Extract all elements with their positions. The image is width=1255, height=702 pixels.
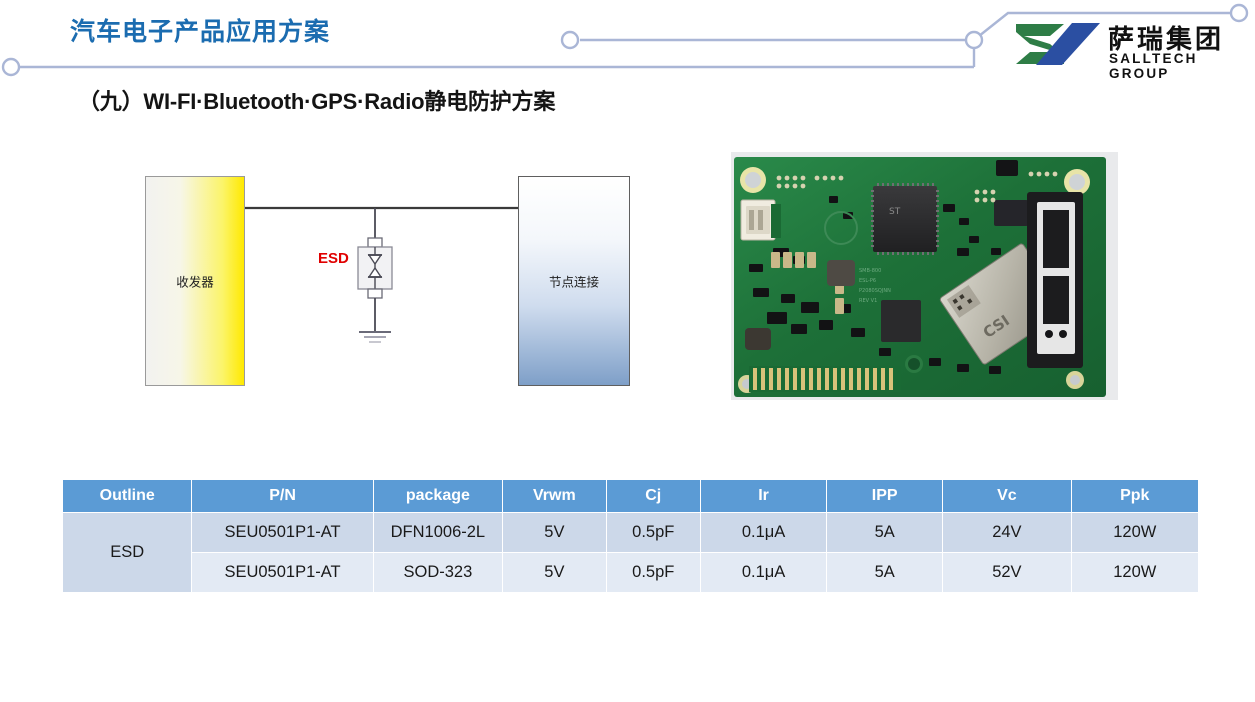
col-header-vc: Vc	[943, 480, 1071, 512]
svg-text:SMB-800: SMB-800	[859, 268, 881, 274]
table-row: SEU0501P1-AT SOD-323 5V 0.5pF 0.1μA 5A 5…	[63, 552, 1199, 592]
page-title: 汽车电子产品应用方案	[70, 12, 330, 48]
svg-text:P2080SQJNN: P2080SQJNN	[859, 288, 891, 294]
cell-vrwm: 5V	[503, 552, 607, 592]
col-header-cj: Cj	[606, 480, 700, 512]
table-row: ESD SEU0501P1-AT DFN1006-2L 5V 0.5pF 0.1…	[63, 512, 1199, 552]
node-connection-block: 节点连接	[518, 176, 630, 386]
transceiver-block: 收发器	[145, 176, 245, 386]
section-subtitle: （九）WI-FI·Bluetooth·GPS·Radio静电防护方案	[78, 84, 555, 116]
salltech-logo: 萨瑞集团 SALLTECH GROUP	[1012, 18, 1244, 70]
cell-outline-group: ESD	[63, 512, 192, 592]
pcb-photo-graphic: ST CSI	[731, 152, 1118, 400]
col-header-ipp: IPP	[827, 480, 943, 512]
deco-circle-mid	[562, 32, 578, 48]
cell-pn: SEU0501P1-AT	[192, 512, 373, 552]
cell-package: DFN1006-2L	[373, 512, 502, 552]
cell-ipp: 5A	[827, 512, 943, 552]
col-header-pn: P/N	[192, 480, 373, 512]
svg-text:ESL-P6: ESL-P6	[859, 278, 876, 284]
cell-pn: SEU0501P1-AT	[192, 552, 373, 592]
svg-text:ST: ST	[889, 207, 901, 217]
slide-header: 汽车电子产品应用方案 萨瑞集团 SALLTECH GROUP	[0, 0, 1255, 90]
col-header-package: package	[373, 480, 502, 512]
deco-circle-junction	[966, 32, 982, 48]
col-header-ir: Ir	[700, 480, 826, 512]
esd-label: ESD	[318, 250, 349, 267]
col-header-vrwm: Vrwm	[503, 480, 607, 512]
cell-vc: 52V	[943, 552, 1071, 592]
cell-package: SOD-323	[373, 552, 502, 592]
cell-ppk: 120W	[1071, 512, 1198, 552]
node-connection-label: 节点连接	[519, 272, 629, 291]
col-header-ppk: Ppk	[1071, 480, 1198, 512]
cell-cj: 0.5pF	[606, 552, 700, 592]
pcb-photo: ST CSI	[731, 152, 1118, 400]
cell-cj: 0.5pF	[606, 512, 700, 552]
esd-protection-circuit-diagram: 收发器 节点连接 ESD	[130, 160, 650, 410]
svg-text:REV V1: REV V1	[859, 298, 877, 304]
slide-root: 汽车电子产品应用方案 萨瑞集团 SALLTECH GROUP （九）WI-FI·…	[0, 0, 1255, 702]
table-header-row: Outline P/N package Vrwm Cj Ir IPP Vc Pp…	[63, 480, 1199, 512]
spec-table-container: Outline P/N package Vrwm Cj Ir IPP Vc Pp…	[62, 480, 1199, 593]
cell-ppk: 120W	[1071, 552, 1198, 592]
col-header-outline: Outline	[63, 480, 192, 512]
spec-table: Outline P/N package Vrwm Cj Ir IPP Vc Pp…	[62, 480, 1199, 593]
logo-en-text: SALLTECH GROUP	[1109, 51, 1244, 81]
cell-ir: 0.1μA	[700, 512, 826, 552]
logo-mark-icon	[1012, 18, 1102, 70]
cell-vrwm: 5V	[503, 512, 607, 552]
cell-ir: 0.1μA	[700, 552, 826, 592]
cell-vc: 24V	[943, 512, 1071, 552]
transceiver-label: 收发器	[146, 272, 244, 291]
deco-circle-left	[3, 59, 19, 75]
cell-ipp: 5A	[827, 552, 943, 592]
